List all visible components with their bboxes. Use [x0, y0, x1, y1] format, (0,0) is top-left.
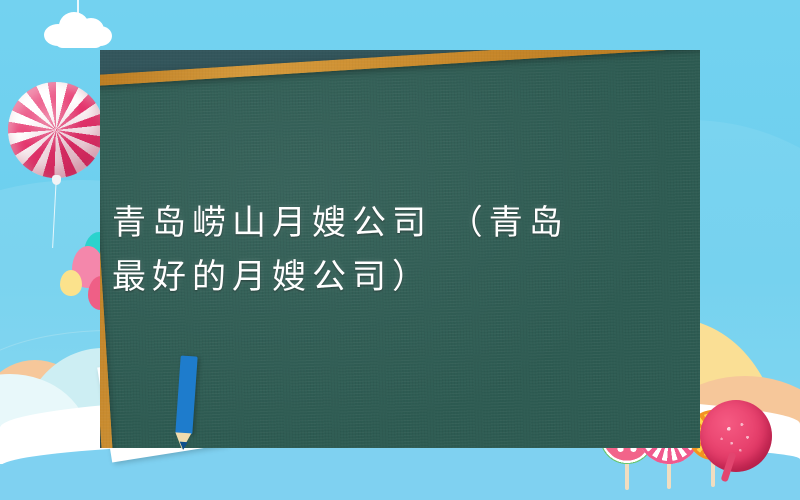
headline-line-1: 青岛崂山月嫂公司 （青岛: [112, 196, 682, 250]
lollipop-sugar-dots: [700, 400, 772, 472]
lollipop-balloon-tie: [52, 175, 61, 185]
lollipop-balloon-icon: [8, 82, 104, 178]
cloud-icon: [44, 12, 112, 44]
lollipop-balloon-shading: [8, 82, 104, 178]
lollipop-round-red-icon: [700, 400, 772, 472]
headline-text: 青岛崂山月嫂公司 （青岛 最好的月嫂公司）: [112, 196, 682, 304]
balloon-yellow-icon: [60, 270, 82, 296]
poster-canvas: 青岛崂山月嫂公司 （青岛 最好的月嫂公司）: [0, 0, 800, 500]
headline-line-2: 最好的月嫂公司）: [112, 250, 682, 304]
